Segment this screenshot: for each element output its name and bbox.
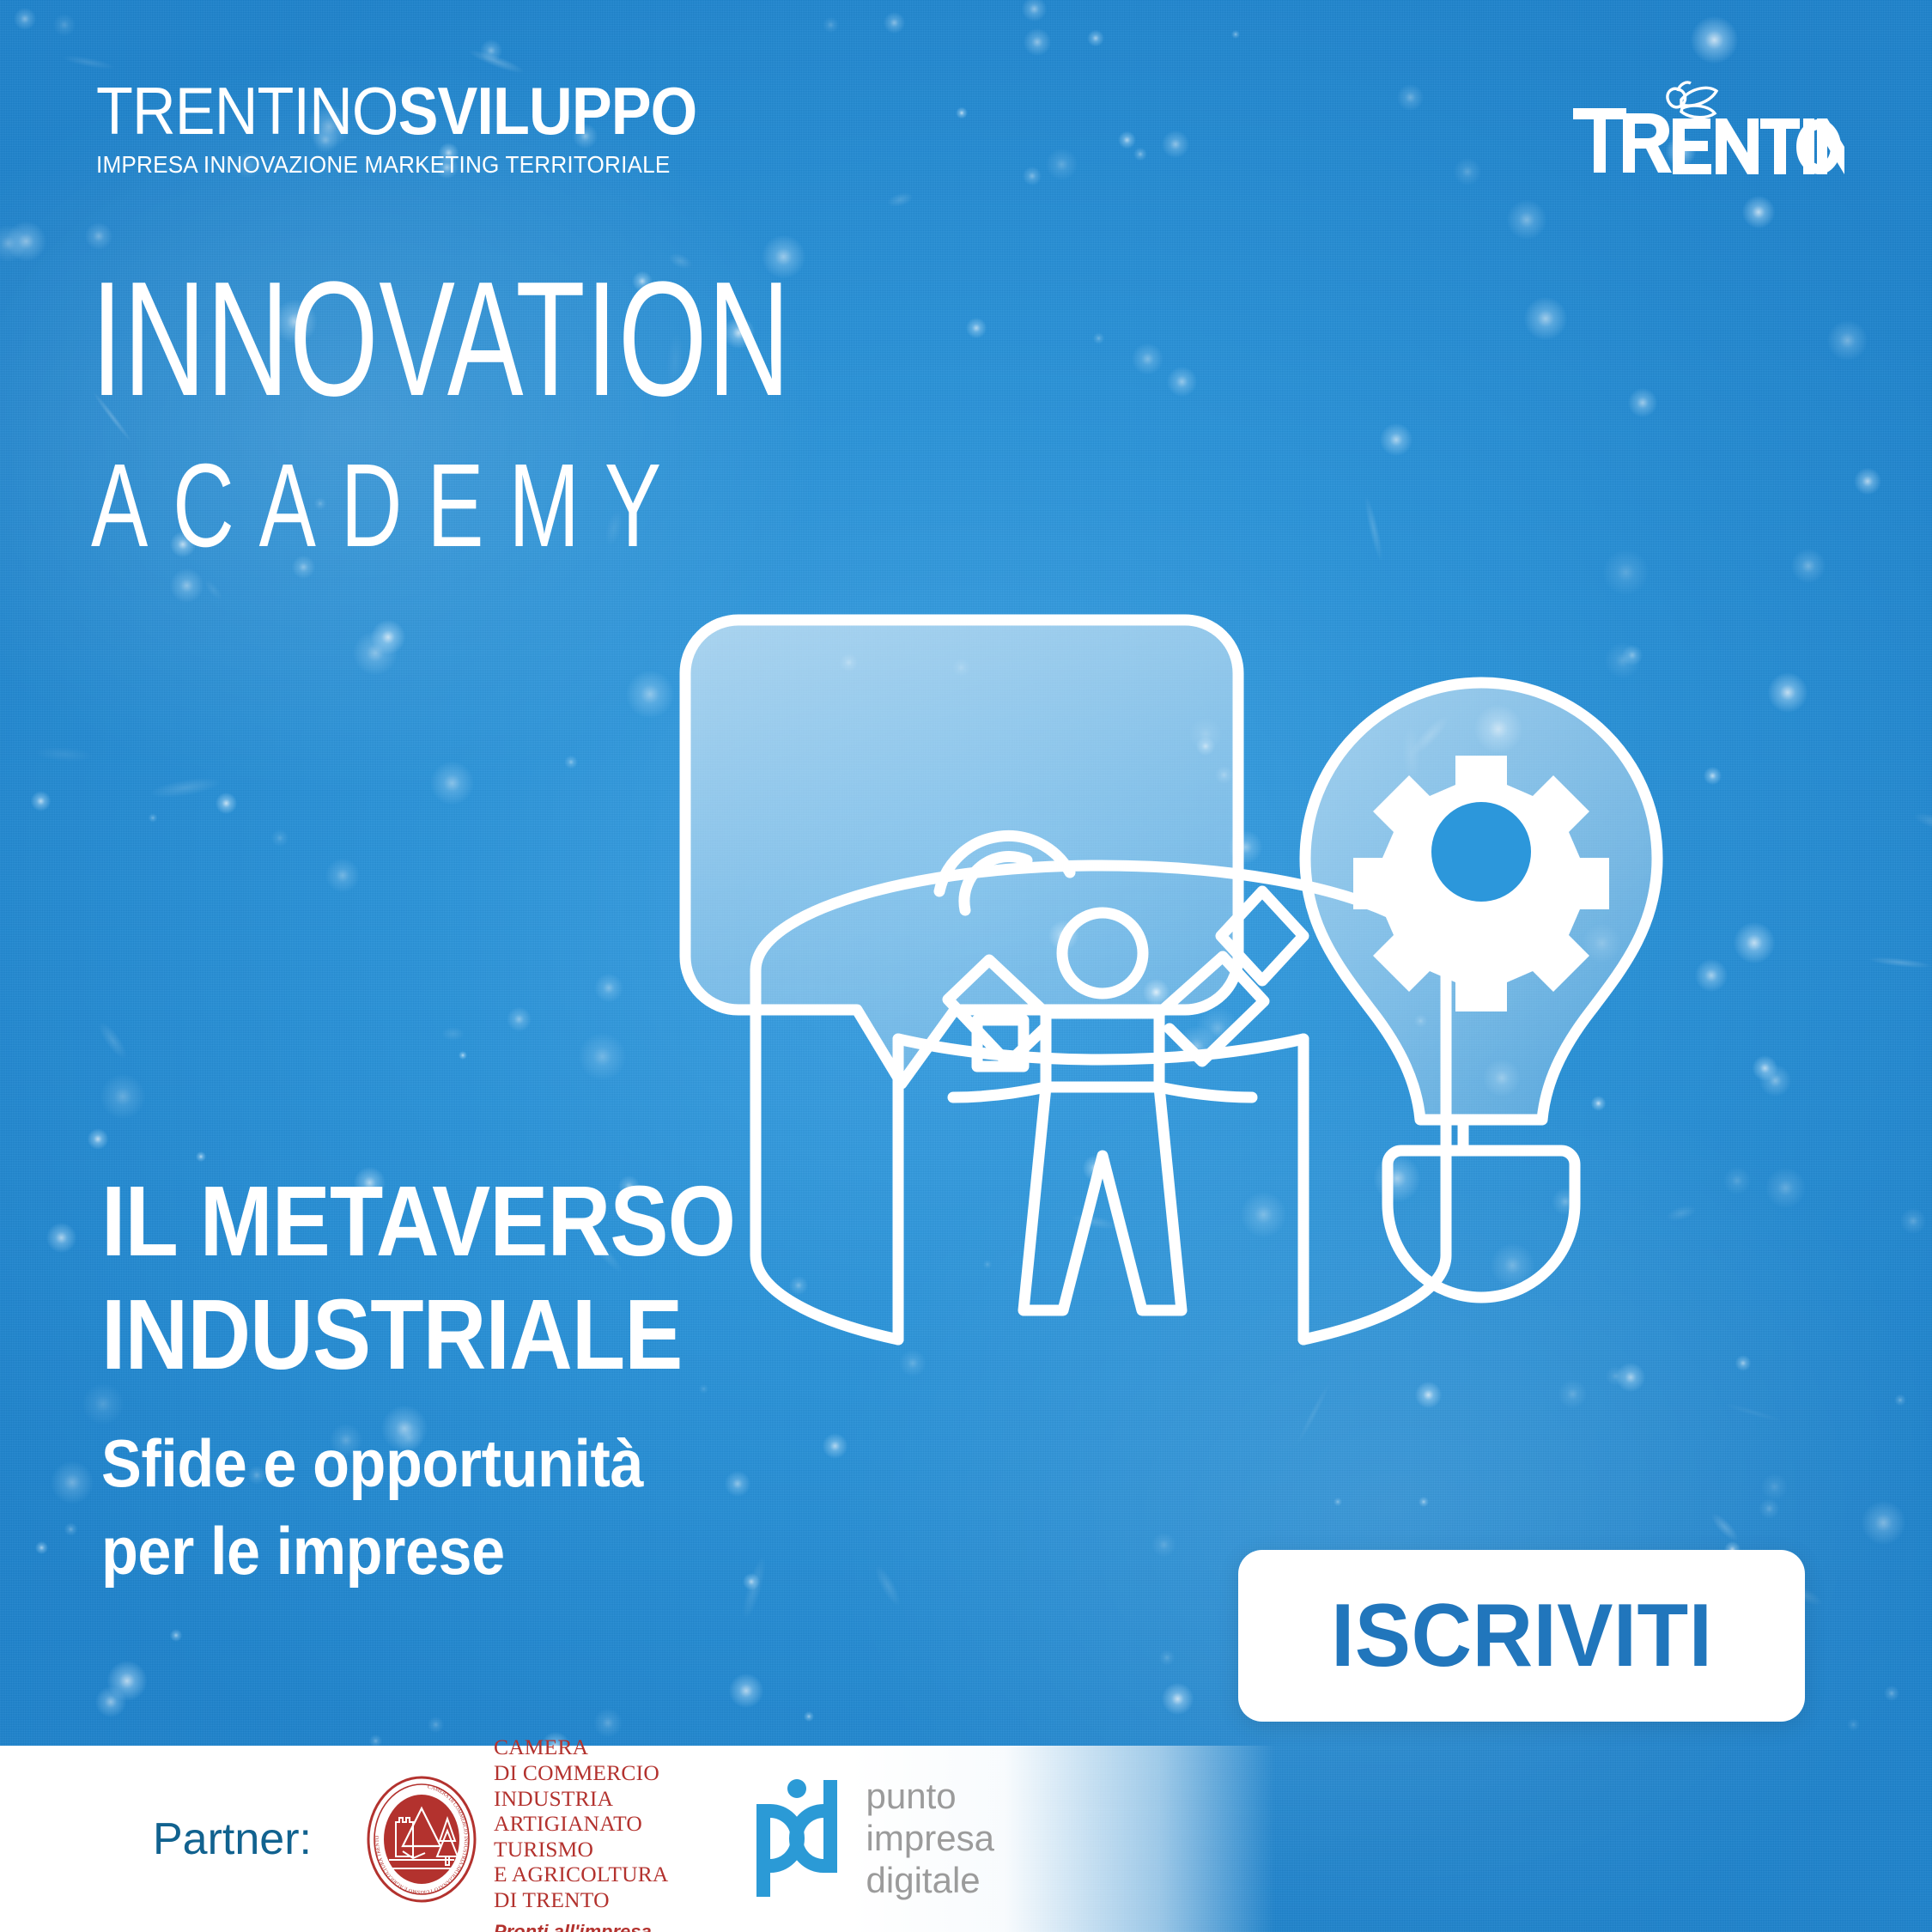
pid-wordmark: punto impresa digitale xyxy=(866,1776,994,1901)
gear-icon xyxy=(1353,756,1609,1012)
punto-impresa-digitale-logo: punto impresa digitale xyxy=(751,1775,994,1904)
butterfly-icon xyxy=(1668,82,1716,118)
camera-di-commercio-text: CAMERA DI COMMERCIO INDUSTRIA ARTIGIANAT… xyxy=(494,1735,669,1932)
cciaa-line-4: TURISMO xyxy=(494,1837,669,1862)
camera-di-commercio-logo: CAMERA DI COMMERCIO INDUSTRIA ARTIGIANAT… xyxy=(365,1735,669,1932)
poster-canvas: TRENTINOSVILUPPO IMPRESA INNOVAZIONE MAR… xyxy=(0,0,1932,1932)
cciaa-line-1: DI COMMERCIO xyxy=(494,1760,669,1786)
cciaa-line-0: CAMERA xyxy=(494,1735,669,1760)
cciaa-line-2: INDUSTRIA xyxy=(494,1786,669,1812)
pid-line-0: punto xyxy=(866,1776,994,1818)
headline-innovation: INNOVATION xyxy=(91,258,791,421)
event-subtitle-line2: per le imprese xyxy=(101,1508,750,1595)
partner-label: Partner: xyxy=(153,1814,312,1865)
pid-monogram-icon xyxy=(751,1775,848,1904)
camera-di-commercio-seal-icon: CAMERA DI COMMERCIO INDUSTRIA ARTIGIANAT… xyxy=(365,1774,478,1905)
event-title-block: IL METAVERSO INDUSTRIALE Sfide e opportu… xyxy=(101,1164,822,1595)
cciaa-line-6: DI TRENTO xyxy=(494,1887,669,1913)
partner-footer: Partner: xyxy=(0,1746,1932,1932)
event-title-line1: IL METAVERSO xyxy=(101,1164,735,1278)
trentinosviluppo-tagline: IMPRESA INNOVAZIONE MARKETING TERRITORIA… xyxy=(96,151,730,179)
lightbulb-icon xyxy=(1305,683,1657,1297)
headline-academy: ACADEMY xyxy=(91,447,811,565)
cciaa-motto: Pronti all'impresa xyxy=(494,1921,669,1932)
program-headline: INNOVATION ACADEMY xyxy=(91,258,1091,565)
trentinosviluppo-logo: TRENTINOSVILUPPO IMPRESA INNOVAZIONE MAR… xyxy=(96,79,763,179)
event-title-line2: INDUSTRIALE xyxy=(101,1278,735,1391)
register-button[interactable]: ISCRIVITI xyxy=(1238,1550,1805,1722)
pid-line-1: impresa xyxy=(866,1818,994,1860)
wordmark-light-part: TRENTINO xyxy=(96,73,398,149)
trentino-brand-logo xyxy=(1570,74,1844,177)
trentinosviluppo-wordmark: TRENTINOSVILUPPO xyxy=(96,79,696,143)
metaverse-illustration xyxy=(704,601,1889,1511)
wordmark-bold-part: SVILUPPO xyxy=(398,73,697,149)
register-button-label: ISCRIVITI xyxy=(1331,1585,1712,1687)
event-subtitle-line1: Sfide e opportunità xyxy=(101,1420,750,1507)
pid-line-2: digitale xyxy=(866,1860,994,1902)
cciaa-line-5: E AGRICOLTURA xyxy=(494,1862,669,1887)
cciaa-line-3: ARTIGIANATO xyxy=(494,1811,669,1837)
